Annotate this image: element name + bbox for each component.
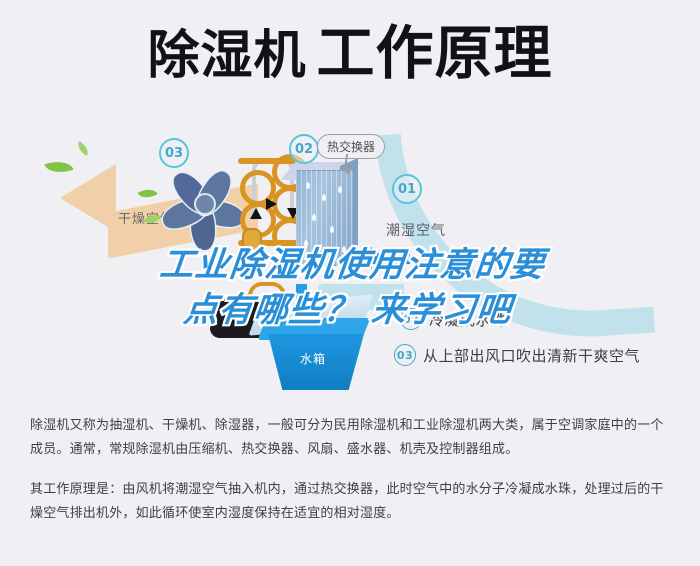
moist-air-label: 潮湿空气 [386,220,446,240]
water-droplet-icon [322,194,326,201]
water-droplet-icon [338,186,342,193]
infographic-page: 除湿机工作原理 干燥空气 [0,0,700,566]
article-paragraph-2: 其工作原理是：由风机将潮湿空气抽入机内，通过热交换器，此时空气中的水分子冷凝成水… [30,478,676,526]
water-tank-label: 水箱 [300,350,326,367]
heat-exchanger-callout: 热交换器 [317,134,385,159]
flow-arrow-right-icon [266,198,277,210]
article-paragraph-1: 除湿机又称为抽湿机、干燥机、除湿器，一般可分为民用除湿机和工业除湿机两大类，属于… [30,414,676,462]
page-title: 除湿机工作原理 [0,22,700,87]
water-droplet-icon [312,214,316,221]
step-badge-01: 01 [392,174,422,204]
leaf-icon [75,141,92,156]
overlay-headline: 工业除湿机使用注意的要 点有哪些？ 来学习吧 [0,243,700,333]
step-line-03-text: 从上部出风口吹出清新干爽空气 [423,345,640,366]
callout-pointer-icon [343,168,353,175]
step-line-03: 03 从上部出风口吹出清新干爽空气 [394,344,640,366]
fan-hub [194,193,216,215]
article-body: 除湿机又称为抽湿机、干燥机、除湿器，一般可分为民用除湿机和工业除湿机两大类，属于… [30,414,676,526]
page-title-part1: 除湿机 [147,26,306,86]
step-badge-02: 02 [289,134,319,164]
dry-air-arrow-head [60,164,116,232]
overlay-headline-line1: 工业除湿机使用注意的要 [0,243,700,288]
water-droplet-icon [306,182,310,189]
water-droplet-icon [330,226,334,233]
flow-arrow-up-icon [250,208,262,219]
page-title-part2: 工作原理 [317,19,553,87]
overlay-headline-line2: 点有哪些？ 来学习吧 [0,288,700,333]
step-badge-03-inline: 03 [394,344,416,366]
step-badge-03: 03 [159,138,189,168]
